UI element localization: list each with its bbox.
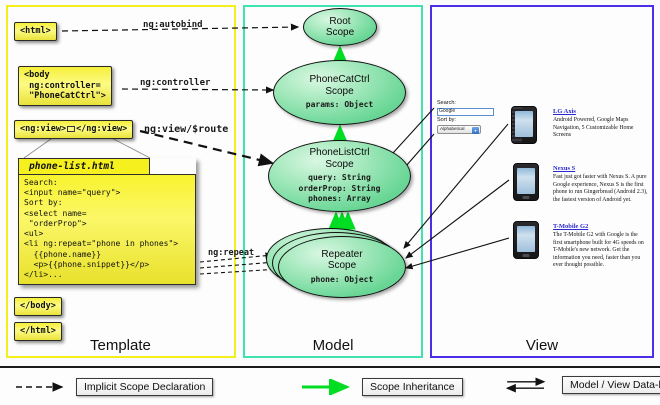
html-close-tag-box: </html>	[14, 322, 62, 341]
legend: Implicit Scope Declaration Scope Inherit…	[0, 366, 660, 405]
scope-phonecatctrl-props: params: Object	[306, 100, 373, 110]
legend-item-implicit-scope-declaration: Implicit Scope Declaration	[14, 378, 213, 396]
phone-list-html-callout: phone-list.html Search: <input name="que…	[18, 158, 196, 285]
phone-home-button	[523, 196, 530, 199]
phone-snippet: The T-Mobile G2 with Google is the first…	[553, 232, 648, 270]
list-item: LG Axis Android Powered, Google Maps Nav…	[553, 108, 648, 140]
list-item: T-Mobile G2 The T-Mobile G2 with Google …	[553, 223, 648, 270]
scope-phonelistctrl-title-line1: PhoneListCtrl	[309, 147, 369, 158]
ng-view-open-label: <ng:view>	[20, 124, 66, 134]
callout-code: Search: <input name="query"> Sort by: <s…	[18, 174, 196, 285]
legend-item-model-view-data-binding: Model / View Data-binding	[500, 376, 660, 394]
legend-label-implicit: Implicit Scope Declaration	[76, 378, 213, 396]
scope-phonecatctrl-title-line2: Scope	[325, 86, 353, 97]
view-search-form: Search: Google Sort by: Alphabetical ▾	[437, 100, 494, 134]
scope-repeater-props: phone: Object	[311, 275, 374, 285]
phone-thumbnail-lg-axis	[511, 106, 537, 144]
scope-phonecatctrl-title-line1: PhoneCatCtrl	[309, 74, 369, 85]
scope-phonecatctrl: PhoneCatCtrl Scope params: Object	[273, 60, 406, 125]
dashed-arrow-icon	[14, 379, 70, 395]
phone-name-link[interactable]: Nexus S	[553, 165, 648, 172]
sort-label: Sort by:	[437, 117, 494, 125]
angular-concepts-diagram: Template Model View	[0, 0, 660, 405]
phone-snippet: Fast just got faster with Nexus S. A pur…	[553, 174, 648, 204]
scope-phonelistctrl-props: query: String orderProp: String phones: …	[299, 173, 381, 204]
green-arrow-icon	[300, 379, 356, 395]
phone-name-link[interactable]: T-Mobile G2	[553, 223, 648, 230]
view-column-label: View	[432, 337, 652, 354]
html-open-tag-box: <html>	[14, 22, 57, 41]
scope-root: Root Scope	[303, 8, 377, 46]
model-column-label: Model	[245, 337, 421, 354]
ng-view-close-label: </ng:view>	[76, 124, 127, 134]
body-open-tag-box: <body ng:controller= "PhoneCatCtrl">	[18, 66, 112, 106]
phone-thumbnail-t-mobile-g2	[513, 221, 539, 259]
legend-label-databinding: Model / View Data-binding	[562, 376, 660, 394]
connector-label-repeat: ng:repeat	[208, 248, 254, 258]
legend-item-scope-inheritance: Scope Inheritance	[300, 378, 463, 396]
scope-repeater: Repeater Scope phone: Object	[278, 236, 406, 298]
bidirectional-arrow-icon	[500, 377, 556, 393]
scope-root-title-line2: Scope	[326, 27, 354, 38]
phone-screen	[517, 168, 535, 194]
legend-label-inheritance: Scope Inheritance	[362, 378, 463, 396]
phone-screen	[517, 226, 535, 252]
phone-screen	[515, 111, 533, 137]
search-input[interactable]: Google	[437, 108, 494, 116]
connector-label-controller: ng:controller	[140, 78, 210, 88]
phone-thumbnail-nexus-s	[513, 163, 539, 201]
phone-snippet: Android Powered, Google Maps Navigation,…	[553, 117, 648, 140]
search-label: Search:	[437, 100, 494, 108]
body-close-tag-box: </body>	[14, 297, 62, 316]
sort-select-value: Alphabetical	[440, 126, 465, 133]
scope-root-title-line1: Root	[329, 16, 350, 27]
sort-select[interactable]: Alphabetical ▾	[437, 125, 481, 134]
connector-label-route: ng:view/$route	[144, 124, 228, 135]
scope-repeater-title-line1: Repeater	[321, 249, 362, 260]
ng-view-placeholder-rect	[67, 126, 75, 132]
scope-phonelistctrl: PhoneListCtrl Scope query: String orderP…	[268, 140, 411, 212]
phone-name-link[interactable]: LG Axis	[553, 108, 648, 115]
ng-view-tag-box: <ng:view></ng:view>	[14, 120, 133, 139]
list-item: Nexus S Fast just got faster with Nexus …	[553, 165, 648, 204]
callout-title: phone-list.html	[18, 158, 150, 174]
connector-label-autobind: ng:autobind	[143, 20, 203, 30]
scope-repeater-title-line2: Scope	[328, 260, 356, 271]
chevron-down-icon: ▾	[472, 127, 479, 134]
phone-home-button	[523, 254, 530, 257]
scope-phonelistctrl-title-line2: Scope	[325, 159, 353, 170]
